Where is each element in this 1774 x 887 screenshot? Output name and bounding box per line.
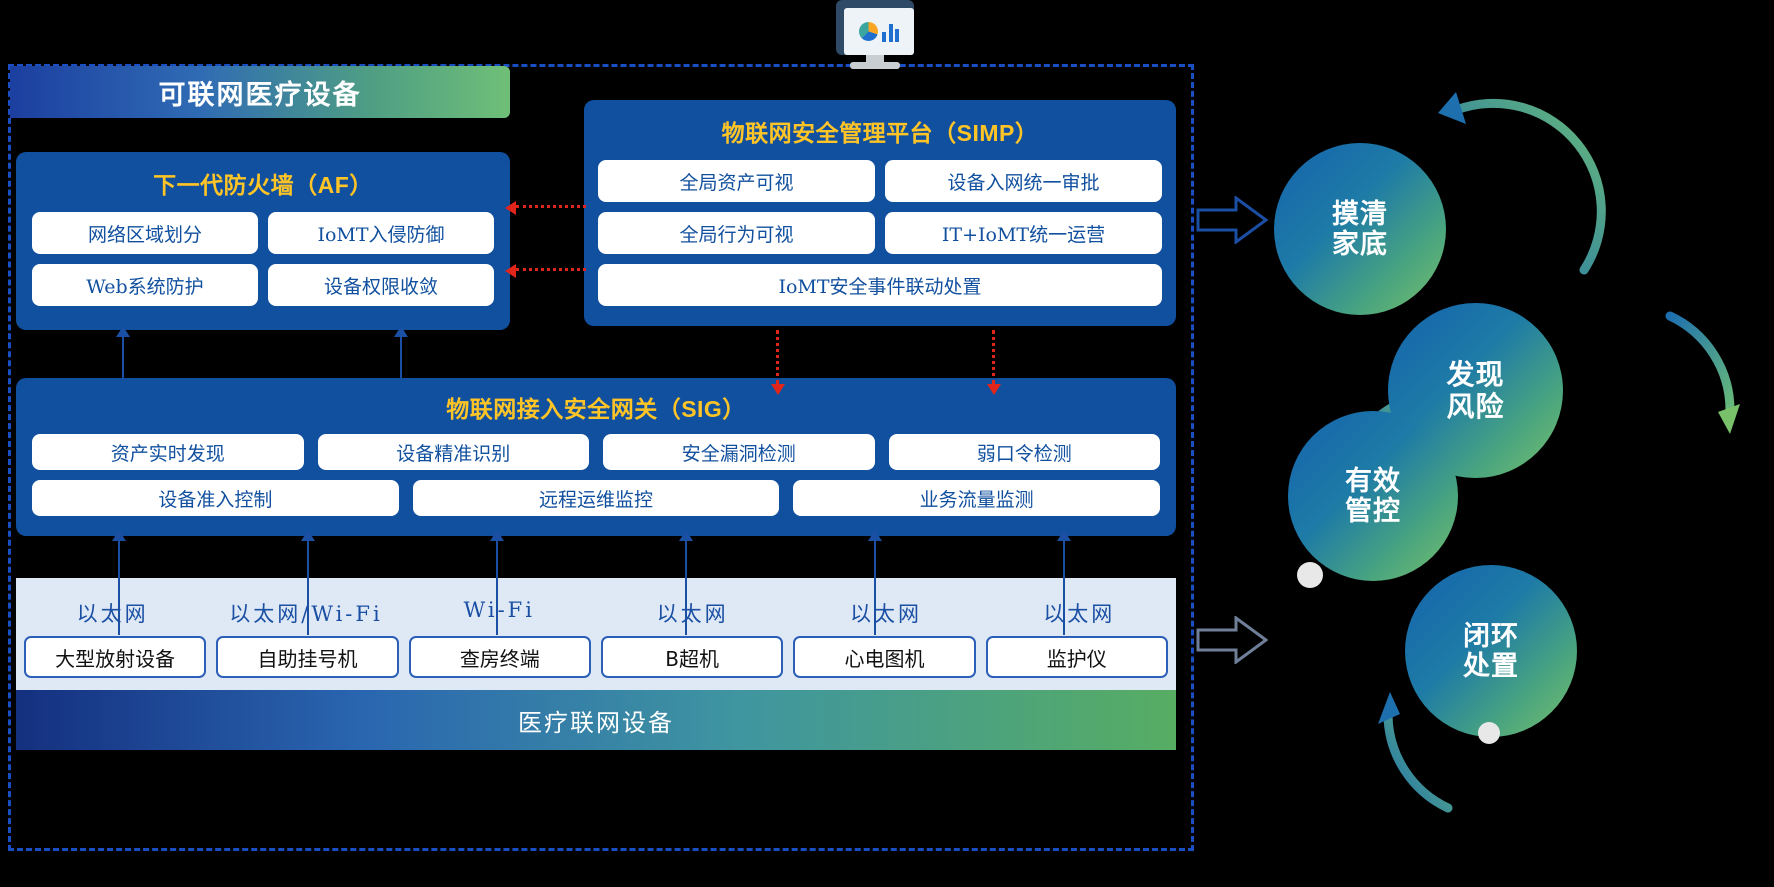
outcome-bubble-line1: 闭环 [1463, 621, 1519, 651]
flow-arrow-sig-to-af [400, 336, 402, 378]
decorative-dot [1478, 722, 1500, 744]
sig-feature-chip[interactable]: 远程运维监控 [413, 480, 780, 516]
outcome-bubble-line1: 发现 [1446, 359, 1504, 390]
linkage-arrow-simp-to-sig [992, 330, 995, 384]
flow-arrow-device-to-sig [685, 540, 687, 635]
af-feature-chip[interactable]: 设备权限收敛 [268, 264, 494, 306]
flow-arrow-device-to-sig [874, 540, 876, 635]
iot-access-security-gateway-panel: 物联网接入安全网关（SIG） 资产实时发现 设备精准识别 安全漏洞检测 弱口令检… [16, 378, 1176, 536]
next-gen-firewall-panel: 下一代防火墙（AF） 网络区域划分 IoMT入侵防御 Web系统防护 设备权限收… [16, 152, 510, 330]
outcome-bubble[interactable]: 摸清 家底 [1274, 143, 1446, 315]
sig-feature-chip[interactable]: 设备精准识别 [318, 434, 590, 470]
network-label: 以太网 [596, 598, 789, 628]
simp-feature-chip[interactable]: 全局行为可视 [598, 212, 875, 254]
decorative-dot [1297, 562, 1323, 588]
outcome-chevron-top [1196, 196, 1268, 244]
flow-arrow-device-to-sig [118, 540, 120, 635]
sig-feature-chip[interactable]: 资产实时发现 [32, 434, 304, 470]
monitor-screen [836, 0, 914, 55]
outcome-chevron-bottom [1196, 616, 1268, 664]
device-box[interactable]: 自助挂号机 [216, 636, 398, 678]
flow-arrow-device-to-sig [307, 540, 309, 635]
linkage-arrow-simp-to-af [516, 268, 586, 271]
outcome-bubble-line2: 家底 [1332, 229, 1388, 259]
outcome-bubble[interactable]: 闭环 处置 [1405, 565, 1577, 737]
outcome-bubble-line1: 摸清 [1332, 199, 1388, 229]
linkage-arrow-simp-to-af [516, 205, 586, 208]
outcome-bubble-line1: 有效 [1345, 466, 1401, 496]
medical-device-strip: 以太网 以太网/Wi-Fi Wi-Fi 以太网 以太网 以太网 大型放射设备 自… [16, 578, 1176, 690]
outcome-bubble-line2: 风险 [1446, 391, 1504, 422]
monitor-base [850, 62, 900, 69]
network-label: 以太网 [16, 598, 209, 628]
simp-panel-title: 物联网安全管理平台（SIMP） [584, 114, 1176, 148]
device-box[interactable]: 查房终端 [409, 636, 591, 678]
page-title: 可联网医疗设备 [10, 66, 510, 118]
sig-feature-chip[interactable]: 设备准入控制 [32, 480, 399, 516]
dashboard-monitor-icon [836, 0, 914, 72]
network-label: 以太网/Wi-Fi [209, 598, 402, 628]
flow-arrow-sig-to-af [122, 336, 124, 378]
network-label-row: 以太网 以太网/Wi-Fi Wi-Fi 以太网 以太网 以太网 [16, 598, 1176, 628]
simp-feature-chip[interactable]: 全局资产可视 [598, 160, 875, 202]
network-label: Wi-Fi [403, 598, 596, 628]
bar-chart-icon [882, 22, 899, 42]
flow-arrow-device-to-sig [1063, 540, 1065, 635]
flow-arrow-device-to-sig [496, 540, 498, 635]
network-label: 以太网 [789, 598, 982, 628]
outcome-bubble-line2: 处置 [1463, 651, 1519, 681]
af-feature-chip[interactable]: 网络区域划分 [32, 212, 258, 254]
af-feature-chip[interactable]: IoMT入侵防御 [268, 212, 494, 254]
linkage-arrow-simp-to-sig [776, 330, 779, 384]
device-box-row: 大型放射设备 自助挂号机 查房终端 B超机 心电图机 监护仪 [24, 636, 1168, 678]
footer-title: 医疗联网设备 [16, 690, 1176, 750]
device-box[interactable]: 心电图机 [793, 636, 975, 678]
diagram-canvas: 可联网医疗设备 下一代防火墙（AF） 网络区域划分 IoMT入侵防御 Web系统… [0, 0, 1774, 887]
sig-feature-chip[interactable]: 业务流量监测 [793, 480, 1160, 516]
outcome-bubble[interactable]: 有效 管控 [1288, 411, 1458, 581]
simp-feature-chip[interactable]: IT+IoMT统一运营 [885, 212, 1162, 254]
af-feature-chip[interactable]: Web系统防护 [32, 264, 258, 306]
sig-feature-chip[interactable]: 弱口令检测 [889, 434, 1161, 470]
device-box[interactable]: 大型放射设备 [24, 636, 206, 678]
outcome-bubble-line2: 管控 [1345, 496, 1401, 526]
simp-feature-chip[interactable]: 设备入网统一审批 [885, 160, 1162, 202]
iot-security-management-platform-panel: 物联网安全管理平台（SIMP） 全局资产可视 设备入网统一审批 全局行为可视 I… [584, 100, 1176, 326]
af-panel-title: 下一代防火墙（AF） [16, 166, 510, 200]
monitor-screen-content [844, 8, 914, 55]
network-label: 以太网 [983, 598, 1176, 628]
device-box[interactable]: B超机 [601, 636, 783, 678]
simp-feature-chip-wide[interactable]: IoMT安全事件联动处置 [598, 264, 1162, 306]
device-box[interactable]: 监护仪 [986, 636, 1168, 678]
sig-feature-chip[interactable]: 安全漏洞检测 [603, 434, 875, 470]
pie-chart-icon [859, 22, 878, 41]
sig-panel-title: 物联网接入安全网关（SIG） [16, 390, 1176, 424]
